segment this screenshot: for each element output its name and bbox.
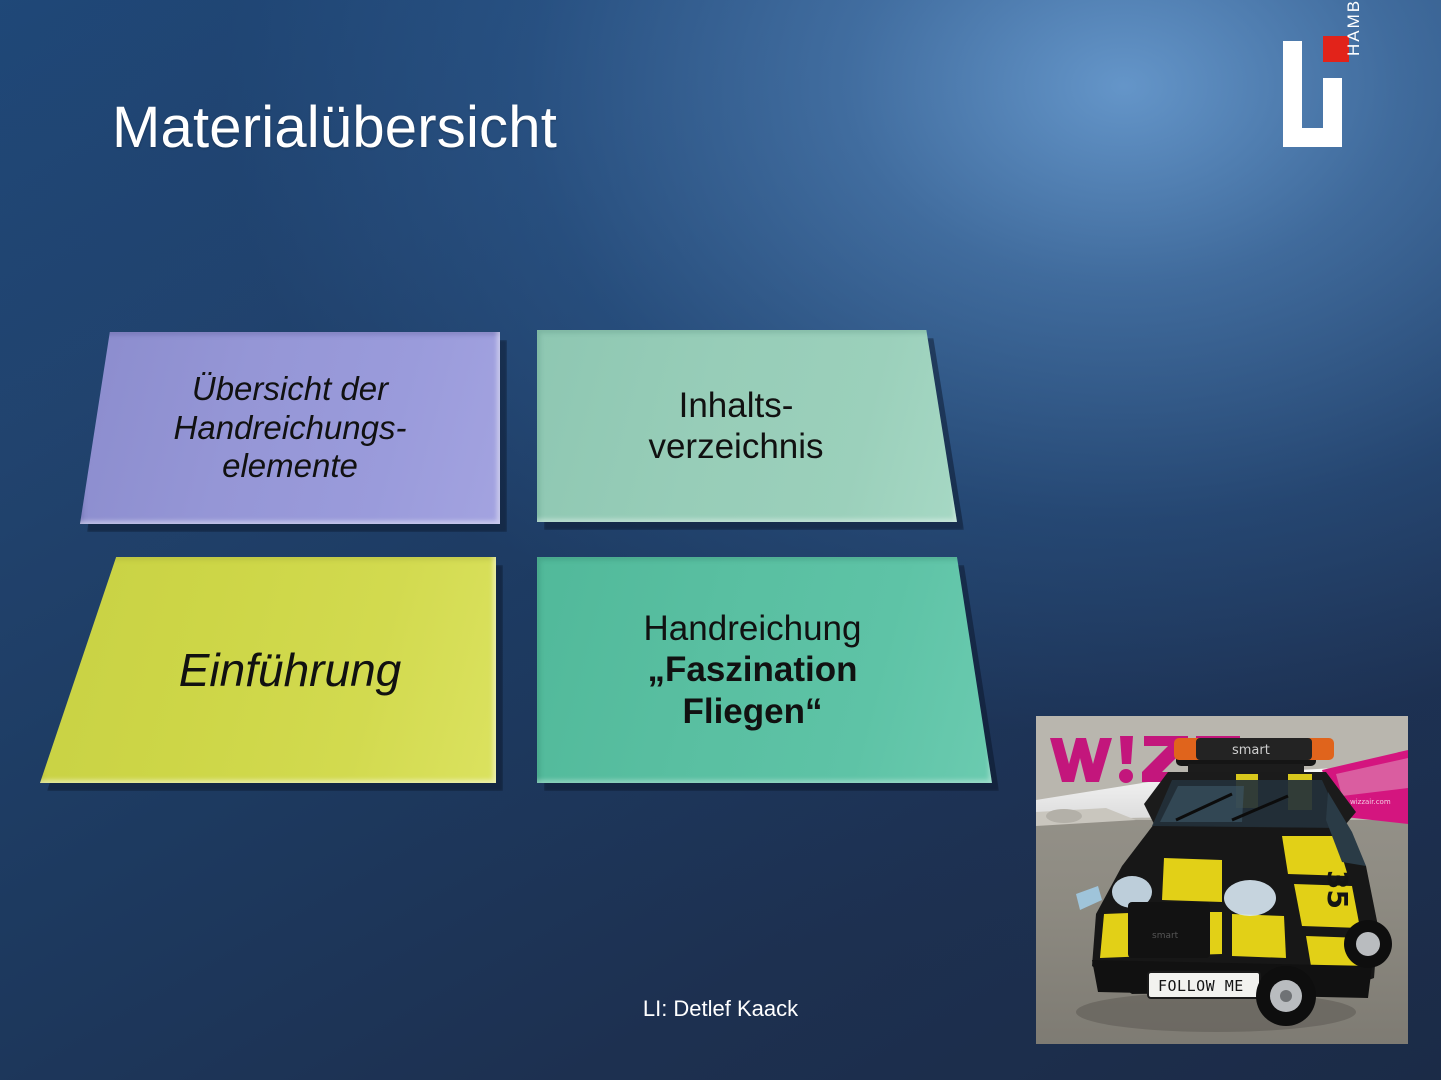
- shape-label-line: elemente: [106, 447, 474, 486]
- shape-handreichung-faszination-fliegen[interactable]: Handreichung „Faszination Fliegen“: [537, 557, 992, 783]
- photo-follow-me-car: wizzair.com smart: [1036, 716, 1408, 1044]
- svg-text:35: 35: [1321, 870, 1354, 909]
- shape-label: Inhalts- verzeichnis: [537, 385, 957, 468]
- shape-label: Übersicht der Handreichungs- elemente: [80, 370, 500, 487]
- shape-label-line: Handreichung: [563, 608, 942, 649]
- shape-label: Einführung: [40, 643, 496, 697]
- svg-text:smart: smart: [1232, 743, 1270, 758]
- shape-label-line: verzeichnis: [563, 426, 909, 467]
- shape-label-line: Übersicht der: [106, 370, 474, 409]
- shape-inhaltsverzeichnis[interactable]: Inhalts- verzeichnis: [537, 330, 957, 522]
- shape-label-line: „Faszination: [563, 649, 942, 690]
- slide-canvas: Materialübersicht HAMBURG Übersicht der …: [0, 0, 1441, 1080]
- shape-einfuehrung[interactable]: Einführung: [40, 557, 496, 783]
- svg-text:FOLLOW ME: FOLLOW ME: [1158, 977, 1244, 995]
- shape-label-line: Handreichungs-: [106, 409, 474, 448]
- page-title: Materialübersicht: [112, 94, 557, 161]
- logo-wordmark: HAMBURG: [1345, 0, 1363, 56]
- svg-text:smart: smart: [1152, 931, 1179, 941]
- shape-label: Handreichung „Faszination Fliegen“: [537, 608, 992, 732]
- svg-text:wizzair.com: wizzair.com: [1350, 798, 1391, 806]
- shape-label-line: Inhalts-: [563, 385, 909, 426]
- shape-uebersicht-der-handreichungselemente[interactable]: Übersicht der Handreichungs- elemente: [80, 332, 500, 524]
- logo-letter-i-stem: [1323, 78, 1342, 147]
- shape-label-line: Einführung: [110, 643, 470, 697]
- li-hamburg-logo: HAMBURG: [1283, 32, 1403, 160]
- shape-label-line: Fliegen“: [563, 691, 942, 732]
